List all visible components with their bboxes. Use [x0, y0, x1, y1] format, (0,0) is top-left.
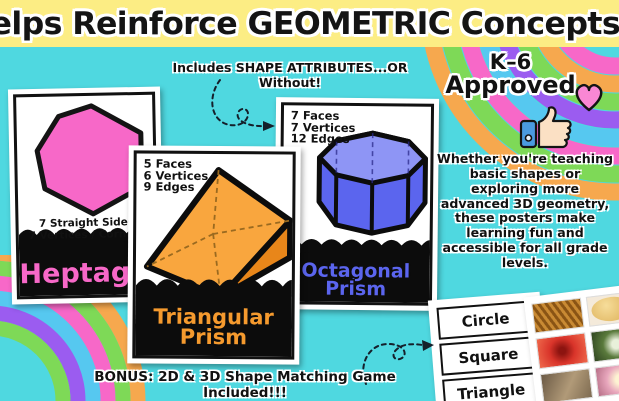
poster-triangular-prism-inner: 5 Faces 6 Vertices 9 Edges Triangular Pr… [132, 150, 295, 359]
word-card: Square [439, 336, 537, 375]
thumbs-up-icon [519, 105, 573, 149]
poster-octagonal-prism-inner: 7 Faces 7 Vertices 12 Edges Octagonal Pr… [279, 102, 434, 306]
match-game-photo-cards[interactable] [523, 283, 619, 401]
honeycomb-hexagon-photo [531, 298, 584, 334]
round-cracker-photo [585, 291, 619, 327]
attribute-line: 12 Edges [291, 134, 356, 146]
poster-triangular-prism[interactable]: 5 Faces 6 Vertices 9 Edges Triangular Pr… [127, 145, 301, 364]
green-okra-photo [590, 326, 619, 362]
word-card: Circle [436, 300, 534, 339]
poster-triangular-prism-attributes: 5 Faces 6 Vertices 9 Edges [143, 159, 208, 195]
k6-line1: K–6 [443, 52, 578, 73]
red-pepper-photo [536, 333, 589, 369]
caption-shape-attributes: Includes SHAPE ATTRIBUTES...OR Without! [140, 60, 440, 90]
flower-photo [594, 361, 619, 397]
promo-graphic: Helps Reinforce GEOMETRIC Concepts... In… [0, 0, 619, 401]
poster-triangular-prism-name: Triangular Prism [135, 308, 291, 349]
poster-octagonal-prism-name: Octagonal Prism [282, 261, 429, 299]
word-card: Triangle [442, 372, 540, 401]
k6-approved-badge: K–6 Approved [443, 52, 578, 97]
caption-bonus: BONUS: 2D & 3D Shape Matching Game Inclu… [80, 369, 410, 401]
attribute-line: 9 Edges [143, 182, 208, 194]
scallop-edge [136, 275, 296, 296]
page-title: Helps Reinforce GEOMETRIC Concepts... [0, 3, 619, 45]
heart-icon [573, 82, 605, 112]
photo-card-grid [531, 291, 619, 401]
wood-triangle-photo [540, 368, 593, 401]
poster-octagonal-prism-attributes: 7 Faces 7 Vertices 12 Edges [291, 110, 356, 146]
description-blurb: Whether you're teaching basic shapes or … [435, 152, 615, 271]
k6-line2: Approved [443, 73, 578, 97]
